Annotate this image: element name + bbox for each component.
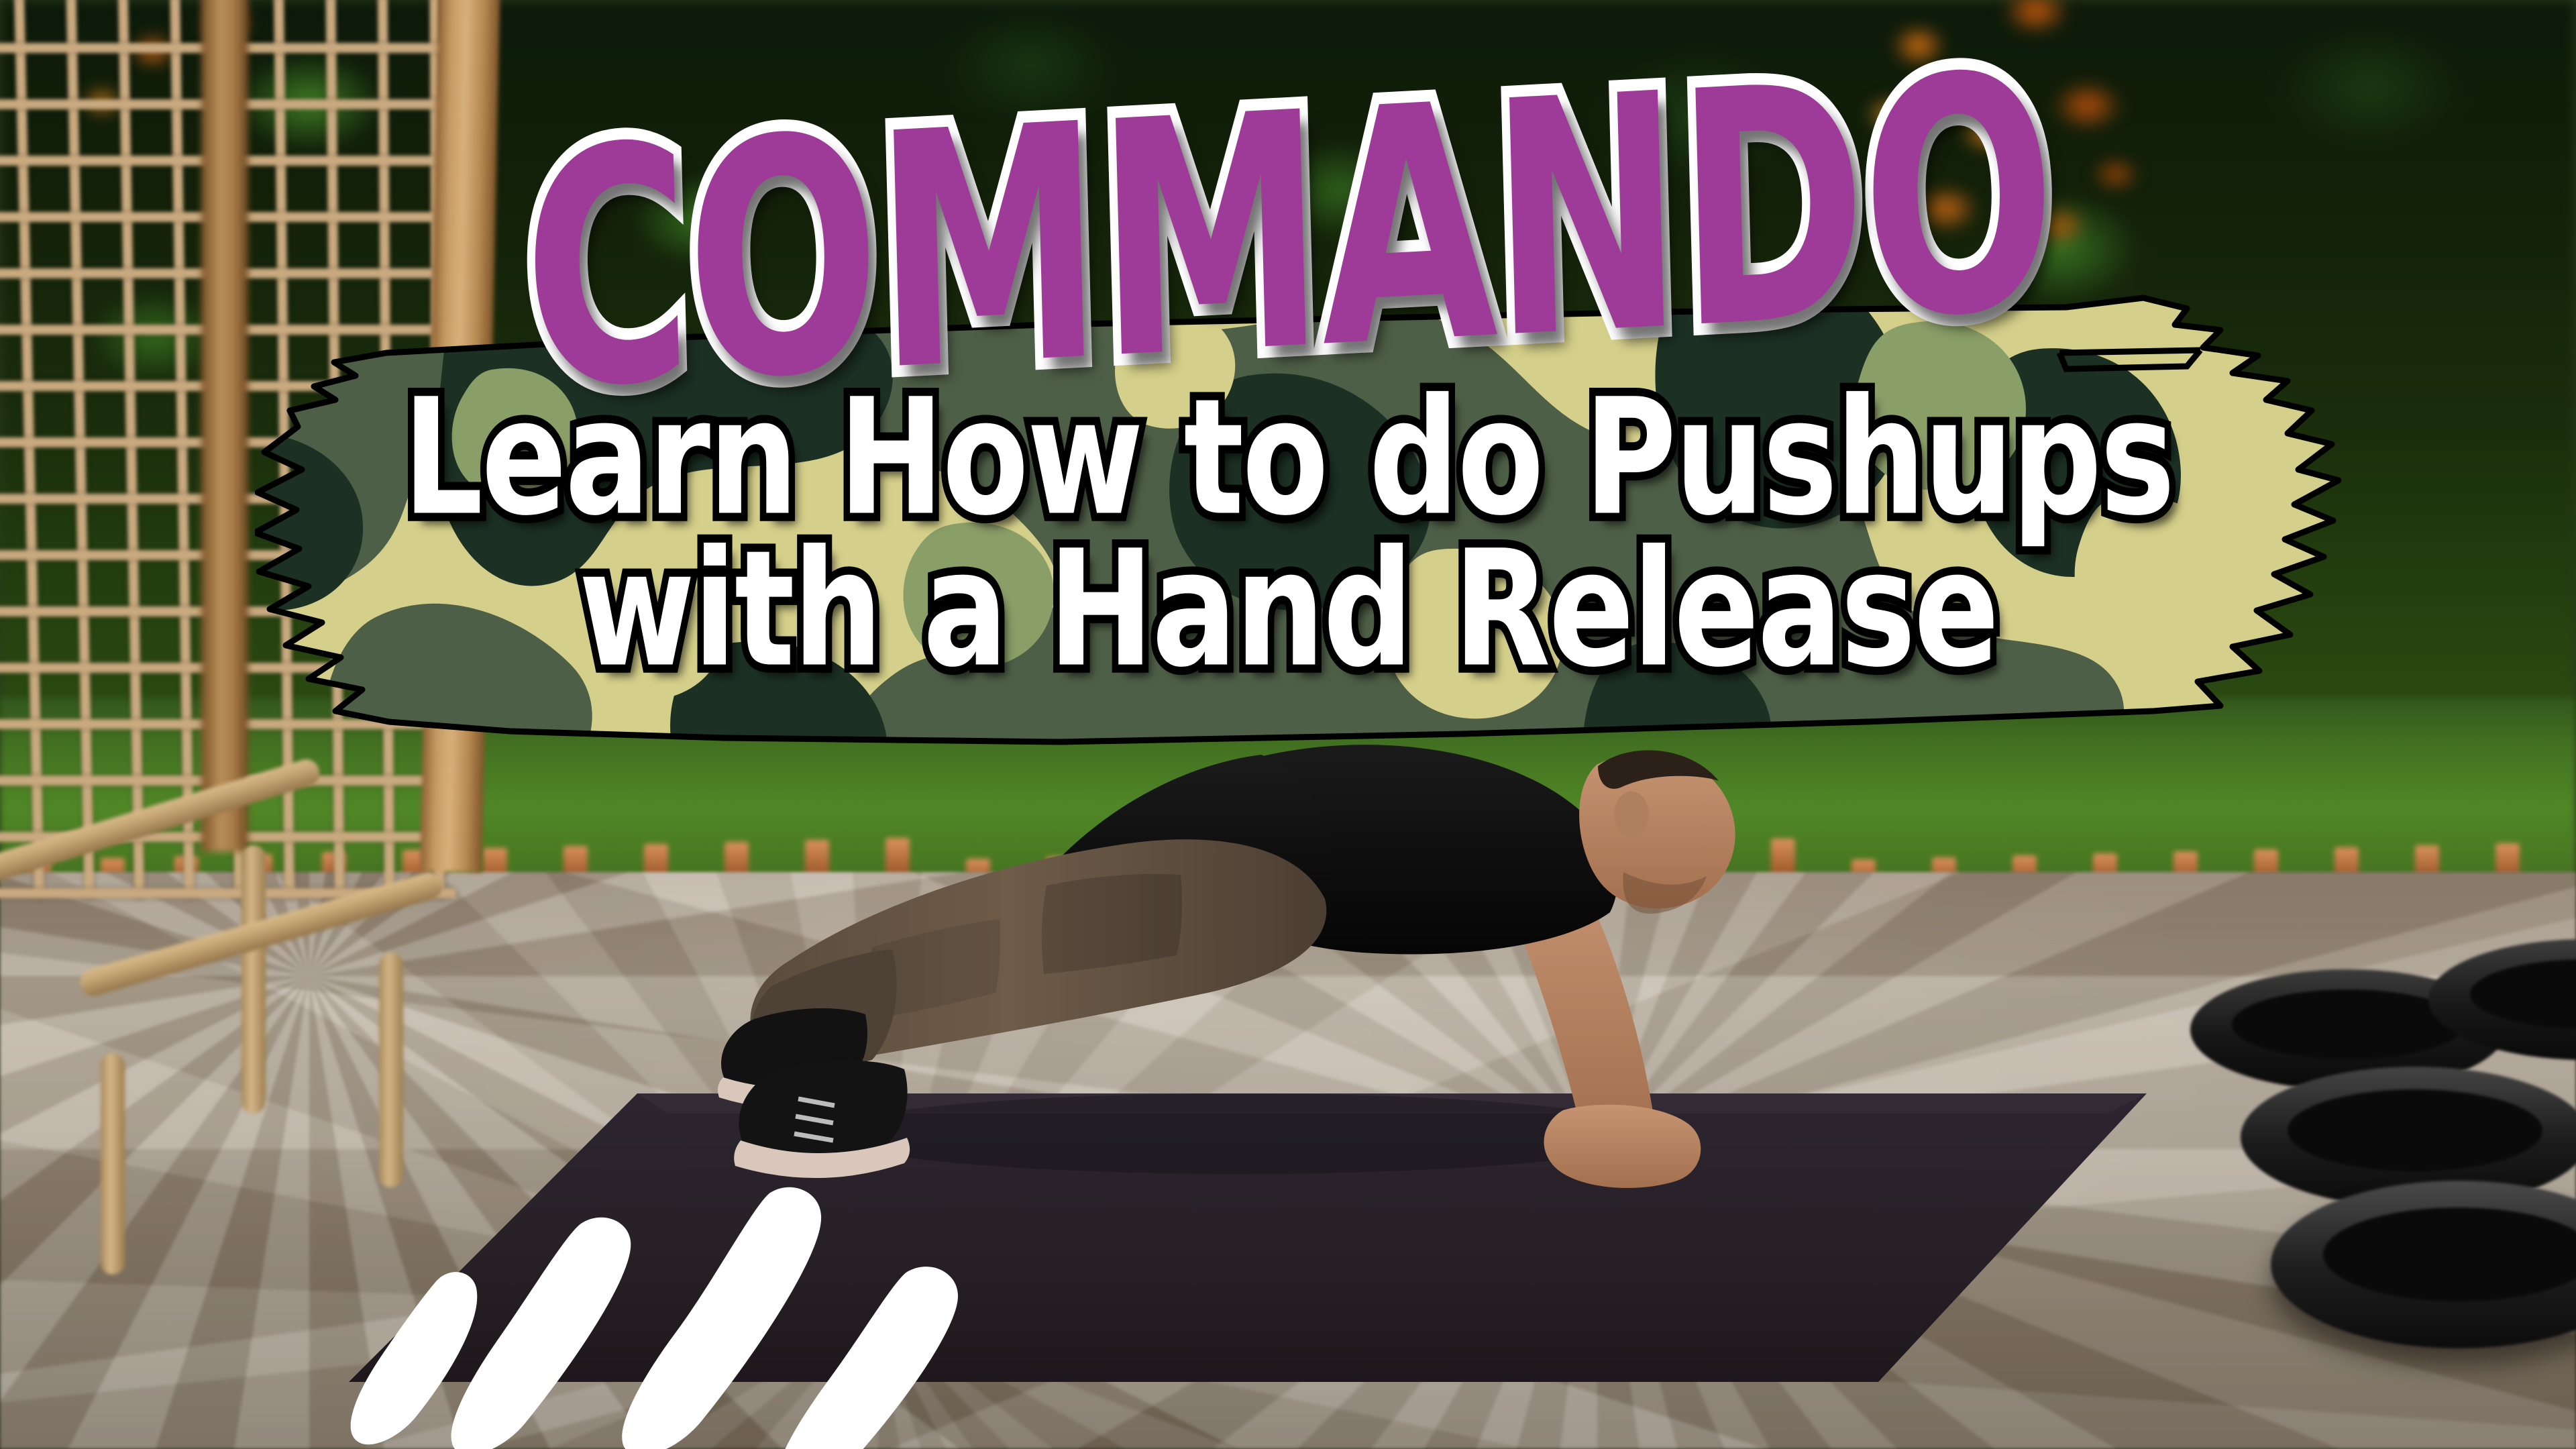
wooden-post-far [201, 0, 248, 852]
net-rope-vertical [66, 0, 95, 899]
net-rope-vertical [14, 0, 44, 899]
thumbnail-canvas: COMMANDO Learn How to do Pushups with a … [0, 0, 2576, 1449]
net-rope-vertical [118, 0, 145, 899]
net-rope-vertical [170, 0, 195, 899]
wooden-hurdle-front [80, 926, 456, 1248]
camo-banner [255, 268, 2348, 751]
